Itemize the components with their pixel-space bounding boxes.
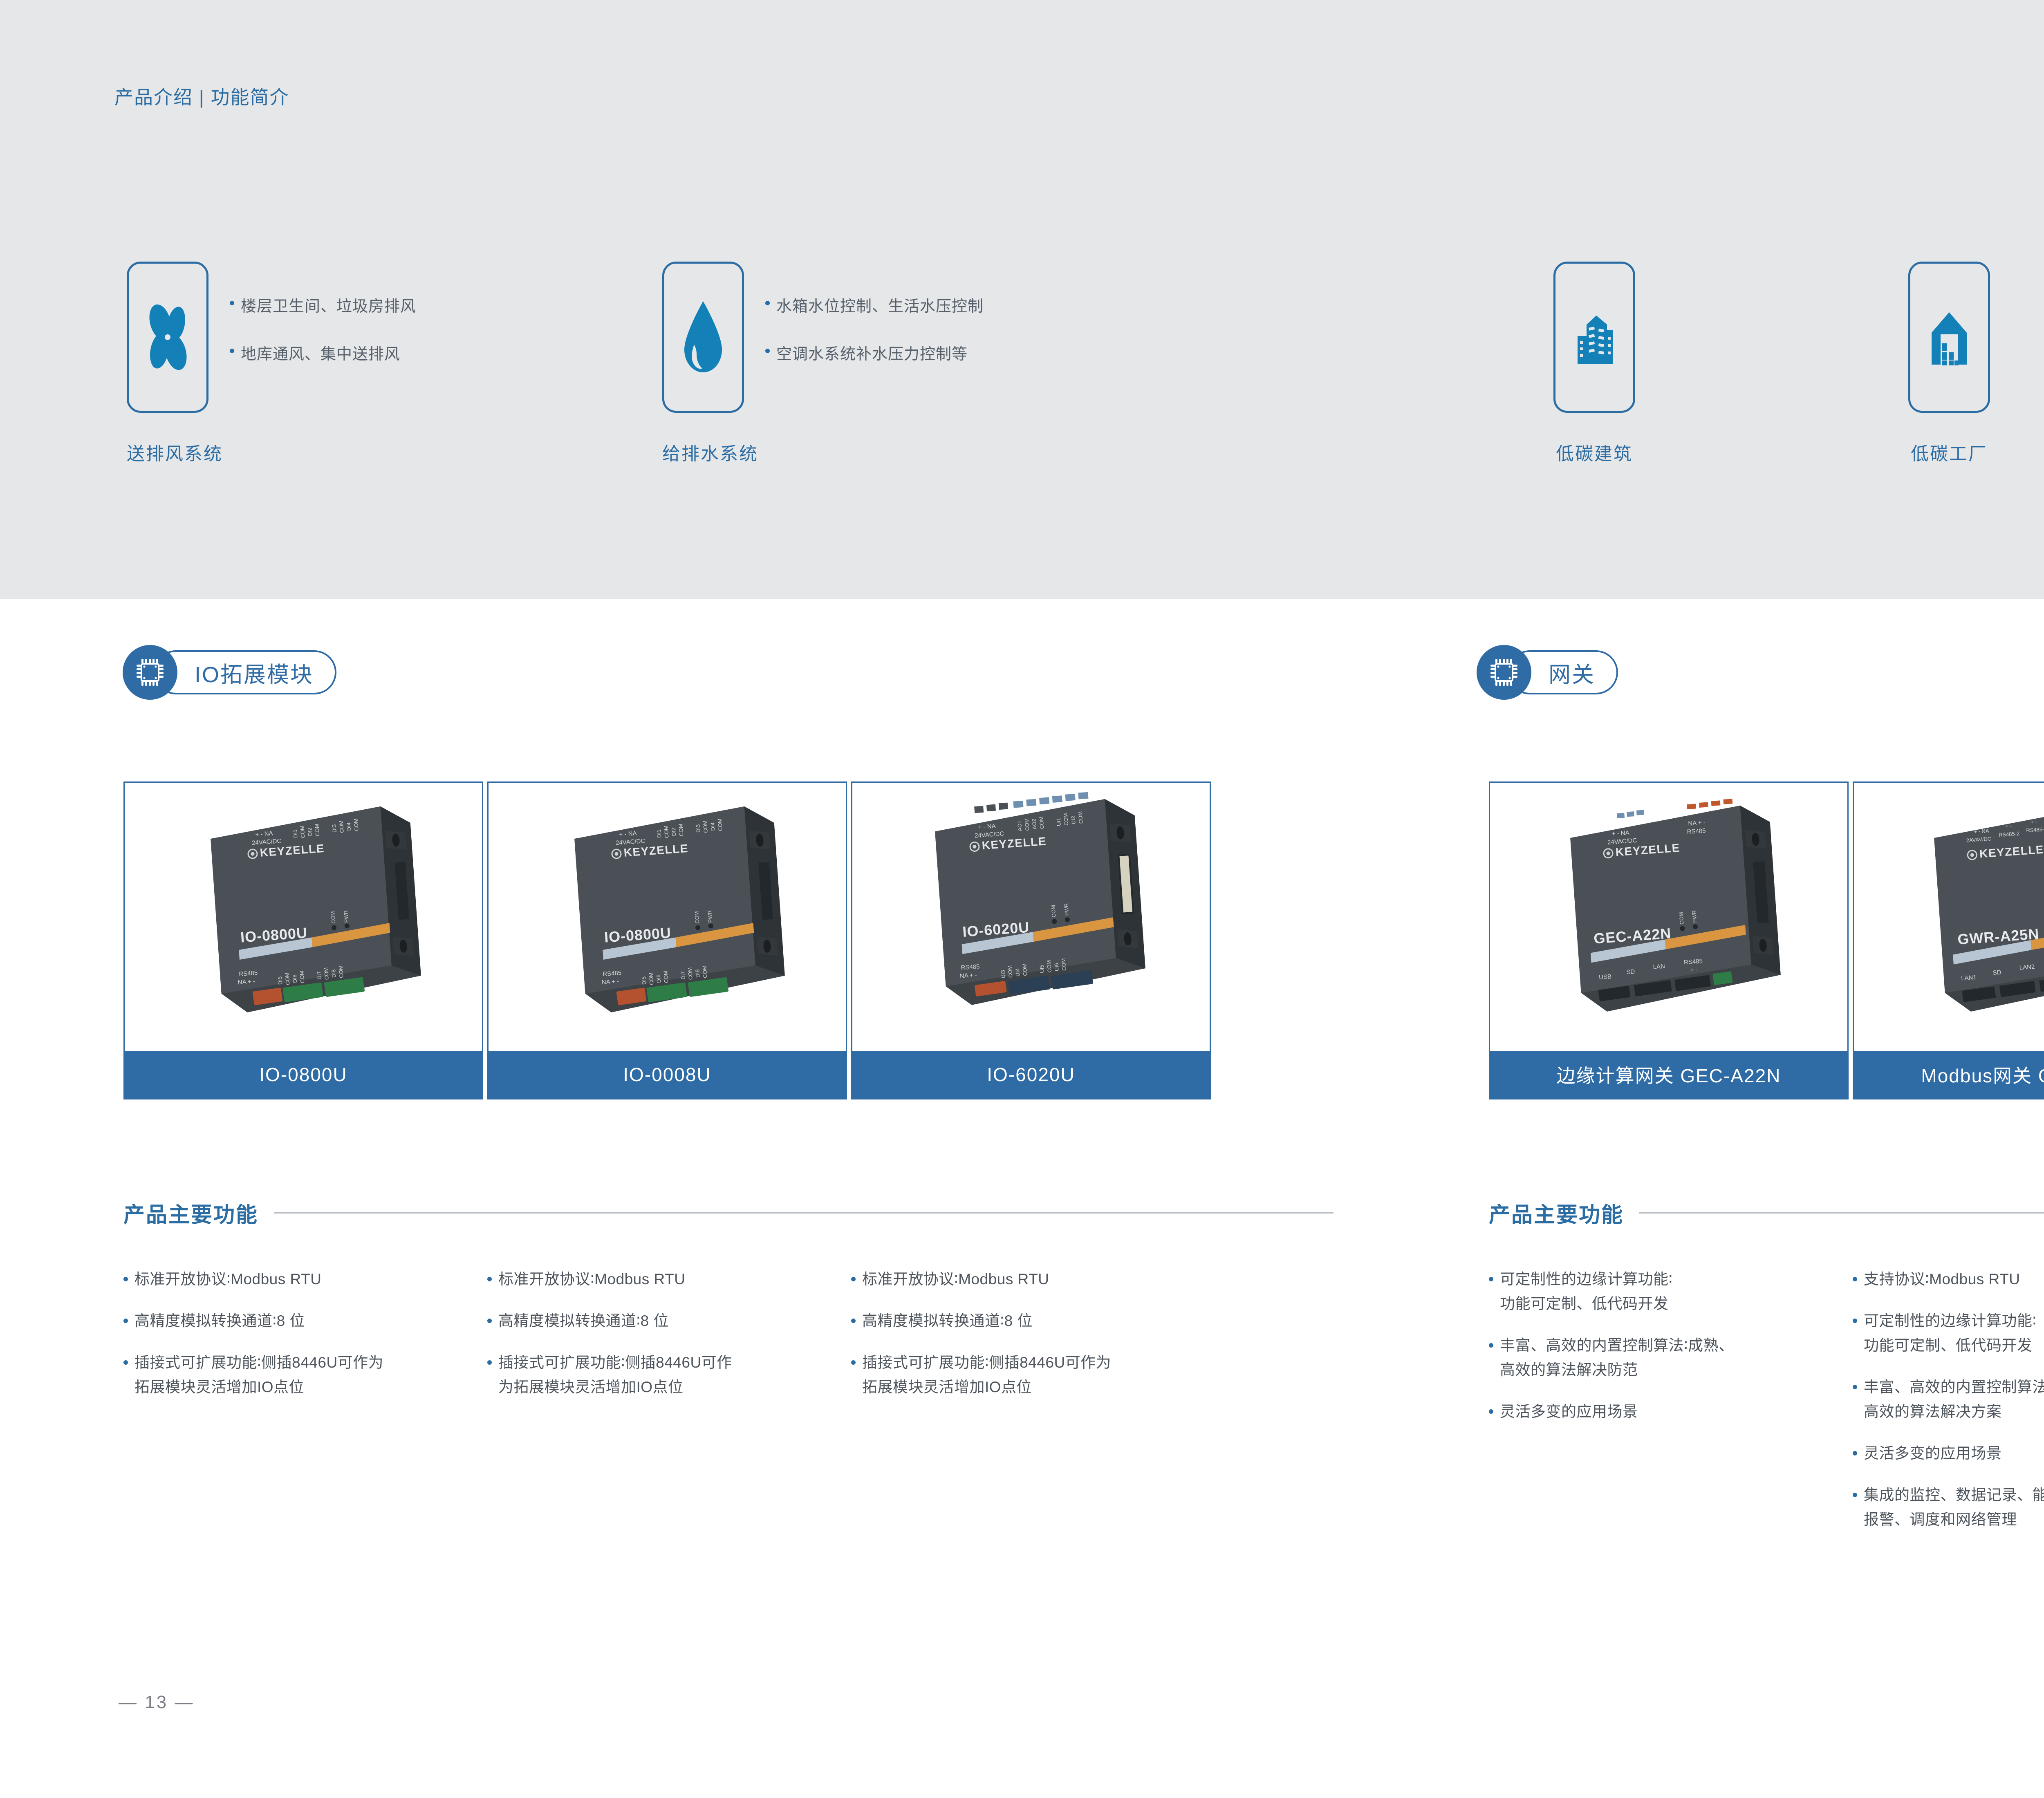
svg-text:COM: COM	[662, 971, 669, 983]
svg-text:LAN1: LAN1	[1961, 974, 1977, 982]
svg-text:UI4: UI4	[1014, 968, 1021, 976]
product-card-caption: IO-6020U	[852, 1051, 1210, 1098]
bullet-dot-icon	[230, 301, 234, 305]
bullet-dot-icon	[1853, 1493, 1857, 1497]
svg-text:DI2: DI2	[670, 827, 677, 836]
product-card[interactable]: + - NA 24VAC/DC AO1 COM AO2 COM UI1 COM …	[851, 781, 1211, 1099]
svg-text:COM: COM	[648, 972, 654, 985]
svg-text:DI2: DI2	[307, 827, 313, 836]
feature-bullet: 高精度模拟转换通道∶8 位	[487, 1309, 855, 1333]
product-card-caption: 边缘计算网关 GEC-A22N	[1490, 1051, 1847, 1098]
feature-text: 支持协议∶Modbus RTU	[1864, 1267, 2020, 1292]
feature-text: 标准开放协议∶Modbus RTU	[134, 1267, 321, 1292]
feature-text: 插接式可扩展功能∶侧插8446U可作为 拓展模块灵活增加IO点位	[134, 1350, 383, 1399]
feature-bullet: 丰富、高效的内置控制算法∶成熟、 高效的算法解决方案	[1853, 1375, 2044, 1424]
fan-icon	[141, 298, 194, 376]
svg-text:AO1: AO1	[1016, 820, 1023, 831]
scenario-building-caption: 低碳建筑	[1553, 439, 1635, 465]
page-header-left: 产品介绍 | 功能简介	[114, 83, 289, 110]
svg-text:USB: USB	[1599, 973, 1612, 981]
svg-text:+ - NA: + - NA	[1974, 828, 1989, 835]
feature-text: 标准开放协议∶Modbus RTU	[862, 1267, 1049, 1292]
bullet-text: 楼层卫生间、垃圾房排风	[241, 293, 416, 316]
svg-text:COM: COM	[298, 971, 305, 983]
bullet-dot-icon	[1853, 1277, 1857, 1281]
svg-text:DI6: DI6	[291, 974, 298, 983]
scenario-factory-caption: 低碳工厂	[1908, 439, 1990, 465]
svg-text:COM: COM	[663, 826, 670, 838]
water-drop-icon	[679, 296, 728, 378]
device-image-gec-a22n: + - NA 24VAC/DC NA + - RS485 KEYZELLE GE…	[1490, 783, 1847, 1051]
features-heading-gateway: 产品主要功能	[1489, 1198, 2044, 1228]
svg-text:COM: COM	[677, 824, 684, 836]
feature-text: 灵活多变的应用场景	[1864, 1441, 2002, 1466]
features-title: 产品主要功能	[123, 1198, 258, 1228]
device-image-gwr-a25n: + - NA+ - + -+ -+ - 2AVAV/DCRS485-2 RS48…	[1854, 783, 2044, 1051]
svg-text:NA + -: NA + -	[1688, 819, 1706, 827]
scenario-water-box	[662, 262, 744, 413]
svg-text:DI5: DI5	[641, 976, 647, 985]
product-photo: + - NA 24VAC/DC NA + - RS485 KEYZELLE GE…	[1490, 783, 1847, 1051]
svg-text:RS485-3: RS485-3	[2026, 826, 2044, 834]
svg-text:+ -: + -	[1690, 966, 1698, 974]
scenario-fan-box	[127, 262, 208, 413]
feature-bullet: 标准开放协议∶Modbus RTU	[851, 1267, 1219, 1292]
product-card[interactable]: + - NA 24VAC/DC DI1 COM DI2 COM DI3 COM …	[123, 781, 483, 1099]
product-card[interactable]: + - NA 24VAC/DC NA + - RS485 KEYZELLE GE…	[1489, 781, 1849, 1099]
feature-column-gw-2: 支持协议∶Modbus RTU 可定制性的边缘计算功能∶ 功能可定制、低代码开发…	[1853, 1267, 2044, 1549]
bullet-dot-icon	[765, 301, 770, 305]
device-image-io-0008u: + - NA 24VAC/DC DI1 COM DI2 COM DI3 COM …	[489, 783, 846, 1051]
heading-rule	[1639, 1212, 2044, 1214]
feature-bullet: 可定制性的边缘计算功能∶ 功能可定制、低代码开发	[1853, 1309, 2044, 1358]
scenario-low-carbon-building: 低碳建筑	[1553, 262, 1635, 465]
svg-text:COM: COM	[693, 911, 700, 924]
svg-text:DI6: DI6	[655, 974, 662, 983]
feature-bullet: 集成的监控、数据记录、能耗计量、 报警、调度和网络管理	[1853, 1483, 2044, 1532]
svg-text:+ -: + -	[2030, 819, 2037, 825]
feature-column-io-1: 标准开放协议∶Modbus RTU 高精度模拟转换通道∶8 位 插接式可扩展功能…	[123, 1267, 491, 1417]
svg-text:DI5: DI5	[277, 976, 283, 985]
svg-text:COM: COM	[284, 972, 291, 985]
bullet-dot-icon	[123, 1277, 128, 1281]
chip-icon	[1488, 656, 1520, 688]
bullet-dot-icon	[851, 1319, 856, 1323]
svg-text:COM: COM	[323, 967, 330, 980]
product-photo: + - NA 24VAC/DC DI1 COM DI2 COM DI3 COM …	[489, 783, 846, 1051]
feature-text: 插接式可扩展功能∶侧插8446U可作 为拓展模块灵活增加IO点位	[498, 1350, 732, 1399]
chip-icon	[134, 656, 166, 688]
svg-text:NA + -: NA + -	[959, 972, 977, 980]
office-building-icon	[1568, 298, 1621, 376]
product-card[interactable]: + - NA 24VAC/DC DI1 COM DI2 COM DI3 COM …	[487, 781, 847, 1099]
scenario-water-bullets: 水箱水位控制、生活水压控制 空调水系统补水压力控制等	[765, 293, 1076, 389]
svg-text:COM: COM	[717, 818, 724, 831]
svg-text:PWR: PWR	[706, 910, 713, 923]
bullet-item: 楼层卫生间、垃圾房排风	[230, 293, 540, 316]
svg-text:DI8: DI8	[330, 969, 337, 978]
svg-text:RS485: RS485	[1684, 958, 1703, 966]
bullet-dot-icon	[1489, 1343, 1493, 1348]
feature-text: 插接式可扩展功能∶侧插8446U可作为 拓展模块灵活增加IO点位	[862, 1350, 1111, 1399]
scenario-water-caption: 给排水系统	[662, 439, 769, 465]
svg-text:COM: COM	[1050, 905, 1057, 918]
bullet-dot-icon	[1853, 1385, 1857, 1389]
feature-text: 集成的监控、数据记录、能耗计量、 报警、调度和网络管理	[1864, 1483, 2044, 1532]
scenario-low-carbon-factory: 低碳工厂	[1908, 262, 1990, 465]
feature-text: 可定制性的边缘计算功能∶ 功能可定制、低代码开发	[1500, 1267, 1673, 1316]
bullet-dot-icon	[487, 1277, 492, 1281]
bullet-dot-icon	[1489, 1277, 1493, 1281]
feature-bullet: 高精度模拟转换通道∶8 位	[851, 1309, 1219, 1333]
svg-text:COM: COM	[1023, 818, 1030, 831]
feature-column-io-3: 标准开放协议∶Modbus RTU 高精度模拟转换通道∶8 位 插接式可扩展功能…	[851, 1267, 1219, 1417]
bullet-dot-icon	[1489, 1409, 1493, 1414]
svg-text:COM: COM	[299, 826, 306, 838]
feature-bullet: 灵活多变的应用场景	[1489, 1399, 1840, 1424]
bullet-dot-icon	[851, 1277, 856, 1281]
svg-text:LAN: LAN	[1653, 963, 1665, 971]
bullet-dot-icon	[1853, 1319, 1857, 1323]
bullet-item: 空调水系统补水压力控制等	[765, 341, 1076, 364]
svg-text:DI7: DI7	[316, 971, 322, 980]
svg-text:COM: COM	[1062, 813, 1069, 826]
product-photo: + - NA 24VAC/DC AO1 COM AO2 COM UI1 COM …	[852, 783, 1210, 1051]
bullet-dot-icon	[487, 1360, 492, 1365]
device-image-io-6020u: + - NA 24VAC/DC AO1 COM AO2 COM UI1 COM …	[852, 783, 1210, 1051]
factory-icon	[1923, 298, 1976, 376]
svg-text:RS485: RS485	[239, 970, 258, 978]
svg-text:UI6: UI6	[1053, 963, 1060, 971]
bullet-text: 空调水系统补水压力控制等	[776, 341, 968, 364]
feature-bullet: 标准开放协议∶Modbus RTU	[123, 1267, 491, 1292]
feature-bullet: 插接式可扩展功能∶侧插8446U可作为 拓展模块灵活增加IO点位	[123, 1350, 491, 1399]
feature-bullet: 可定制性的边缘计算功能∶ 功能可定制、低代码开发	[1489, 1267, 1840, 1316]
svg-text:DI4: DI4	[345, 822, 352, 831]
feature-text: 标准开放协议∶Modbus RTU	[498, 1267, 685, 1292]
product-card-caption: IO-0800U	[125, 1051, 482, 1098]
bullet-dot-icon	[1853, 1451, 1857, 1455]
svg-text:UI1: UI1	[1056, 817, 1062, 826]
scenario-building-box	[1553, 262, 1635, 413]
feature-text: 高精度模拟转换通道∶8 位	[862, 1309, 1033, 1333]
feature-bullet: 支持协议∶Modbus RTU	[1853, 1267, 2044, 1292]
svg-text:DI3: DI3	[331, 824, 337, 833]
bullet-dot-icon	[123, 1360, 128, 1365]
svg-text:SD: SD	[1626, 968, 1635, 976]
svg-text:+ - NA: + - NA	[978, 823, 996, 831]
svg-text:SD: SD	[1992, 969, 2001, 976]
svg-text:+ - NA: + - NA	[255, 830, 273, 838]
scenario-water: 给排水系统 水箱水位控制、生活水压控制 空调水系统补水压力控制等	[662, 262, 769, 465]
feature-bullet: 高精度模拟转换通道∶8 位	[123, 1309, 491, 1333]
svg-text:RS485: RS485	[1687, 827, 1706, 835]
feature-text: 高精度模拟转换通道∶8 位	[498, 1309, 669, 1333]
feature-bullet: 标准开放协议∶Modbus RTU	[487, 1267, 855, 1292]
section-badge-io-label: IO拓展模块	[154, 650, 336, 694]
section-badge-gateway[interactable]: 网关	[1477, 645, 1618, 700]
svg-text:COM: COM	[687, 967, 694, 980]
svg-text:COM: COM	[314, 824, 320, 836]
bullet-dot-icon	[765, 349, 770, 353]
svg-text:COM: COM	[1021, 963, 1028, 976]
scenario-fan: 送排风系统 楼层卫生间、垃圾房排风 地库通风、集中送排风	[127, 262, 233, 465]
svg-text:PWR: PWR	[343, 910, 350, 923]
svg-text:NA + -: NA + -	[238, 978, 255, 986]
svg-text:COM: COM	[329, 911, 336, 924]
svg-text:COM: COM	[1678, 912, 1685, 925]
svg-text:COM: COM	[338, 965, 345, 978]
svg-text:COM: COM	[1038, 816, 1045, 829]
feature-bullet: 灵活多变的应用场景	[1853, 1441, 2044, 1466]
svg-text:DI1: DI1	[292, 829, 298, 838]
page-footer-left: — 13 —	[119, 1692, 194, 1713]
scenario-fan-bullets: 楼层卫生间、垃圾房排风 地库通风、集中送排风	[230, 293, 540, 389]
svg-text:+ - NA: + - NA	[1611, 829, 1629, 837]
svg-text:UI2: UI2	[1070, 816, 1076, 824]
feature-text: 丰富、高效的内置控制算法∶成熟、 高效的算法解决防范	[1500, 1333, 1734, 1382]
svg-text:DI8: DI8	[694, 969, 701, 978]
feature-bullet: 丰富、高效的内置控制算法∶成熟、 高效的算法解决防范	[1489, 1333, 1840, 1382]
product-photo: + - NA+ - + -+ -+ - 2AVAV/DCRS485-2 RS48…	[1854, 783, 2044, 1051]
svg-text:DI7: DI7	[679, 971, 686, 980]
features-title: 产品主要功能	[1489, 1198, 1624, 1228]
svg-text:COM: COM	[1077, 811, 1084, 824]
svg-text:LAN2: LAN2	[2019, 963, 2035, 972]
feature-bullet: 插接式可扩展功能∶侧插8446U可作 为拓展模块灵活增加IO点位	[487, 1350, 855, 1399]
svg-text:COM: COM	[1046, 960, 1053, 973]
bullet-dot-icon	[123, 1319, 128, 1323]
svg-text:COM: COM	[338, 820, 345, 833]
feature-text: 可定制性的边缘计算功能∶ 功能可定制、低代码开发	[1864, 1309, 2037, 1358]
svg-text:COM: COM	[1060, 958, 1067, 971]
section-badge-io[interactable]: IO拓展模块	[123, 645, 336, 700]
svg-text:PWR: PWR	[1691, 910, 1698, 923]
bullet-item: 地库通风、集中送排风	[230, 341, 540, 364]
svg-text:UI3: UI3	[1000, 970, 1006, 978]
scenario-factory-box	[1908, 262, 1990, 413]
bullet-dot-icon	[487, 1319, 492, 1323]
svg-text:DI1: DI1	[656, 829, 662, 838]
svg-text:COM: COM	[1006, 965, 1013, 978]
feature-text: 丰富、高效的内置控制算法∶成熟、 高效的算法解决方案	[1864, 1375, 2044, 1424]
scenario-fan-caption: 送排风系统	[127, 439, 233, 465]
product-card[interactable]: + - NA+ - + -+ -+ - 2AVAV/DCRS485-2 RS48…	[1853, 781, 2044, 1099]
feature-text: 高精度模拟转换通道∶8 位	[134, 1309, 305, 1333]
feature-text: 灵活多变的应用场景	[1500, 1399, 1638, 1424]
svg-text:COM: COM	[353, 818, 360, 831]
svg-text:+ - NA: + - NA	[619, 830, 637, 838]
svg-text:AO2: AO2	[1031, 819, 1038, 830]
bullet-dot-icon	[851, 1360, 856, 1365]
feature-column-io-2: 标准开放协议∶Modbus RTU 高精度模拟转换通道∶8 位 插接式可扩展功能…	[487, 1267, 855, 1417]
svg-text:NA + -: NA + -	[601, 978, 619, 986]
svg-text:COM: COM	[702, 820, 709, 833]
bullet-text: 地库通风、集中送排风	[241, 341, 400, 364]
svg-text:DI3: DI3	[695, 824, 701, 833]
svg-text:DI4: DI4	[709, 822, 716, 831]
svg-text:RS485: RS485	[603, 970, 622, 978]
feature-bullet: 插接式可扩展功能∶侧插8446U可作为 拓展模块灵活增加IO点位	[851, 1350, 1219, 1399]
chip-icon-circle	[1477, 645, 1531, 700]
product-photo: + - NA 24VAC/DC DI1 COM DI2 COM DI3 COM …	[125, 783, 482, 1051]
bullet-item: 水箱水位控制、生活水压控制	[765, 293, 1076, 316]
device-image-io-0800u: + - NA 24VAC/DC DI1 COM DI2 COM DI3 COM …	[125, 783, 482, 1051]
feature-column-gw-1: 可定制性的边缘计算功能∶ 功能可定制、低代码开发 丰富、高效的内置控制算法∶成熟…	[1489, 1267, 1840, 1441]
chip-icon-circle	[123, 645, 177, 700]
svg-text:RS485: RS485	[961, 963, 980, 971]
svg-text:+ -: + -	[2005, 823, 2012, 829]
product-card-caption: Modbus网关 GWR-A25N	[1854, 1051, 2044, 1098]
product-card-caption: IO-0008U	[489, 1051, 846, 1098]
bullet-dot-icon	[230, 349, 234, 353]
bullet-text: 水箱水位控制、生活水压控制	[776, 293, 984, 316]
features-heading-io: 产品主要功能	[123, 1198, 1334, 1228]
svg-text:PWR: PWR	[1063, 903, 1070, 916]
svg-text:UI5: UI5	[1039, 965, 1045, 973]
svg-text:COM: COM	[702, 965, 708, 978]
heading-rule	[274, 1212, 1334, 1214]
